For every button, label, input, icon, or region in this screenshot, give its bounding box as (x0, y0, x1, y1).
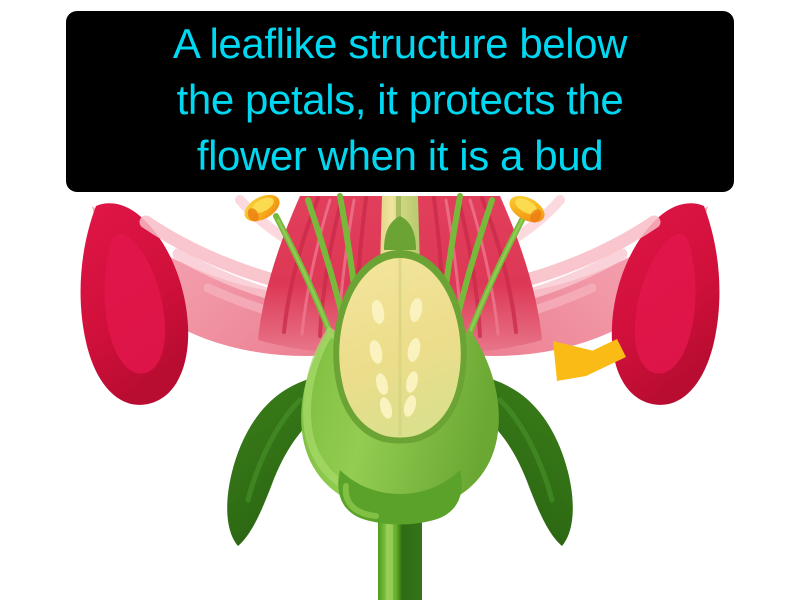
definition-caption-box: A leaflike structure below the petals, i… (66, 11, 734, 192)
sepal-pointer-arrow (553, 339, 626, 381)
flashcard-canvas: A leaflike structure below the petals, i… (0, 0, 800, 600)
definition-caption-text: A leaflike structure below the petals, i… (173, 16, 627, 184)
